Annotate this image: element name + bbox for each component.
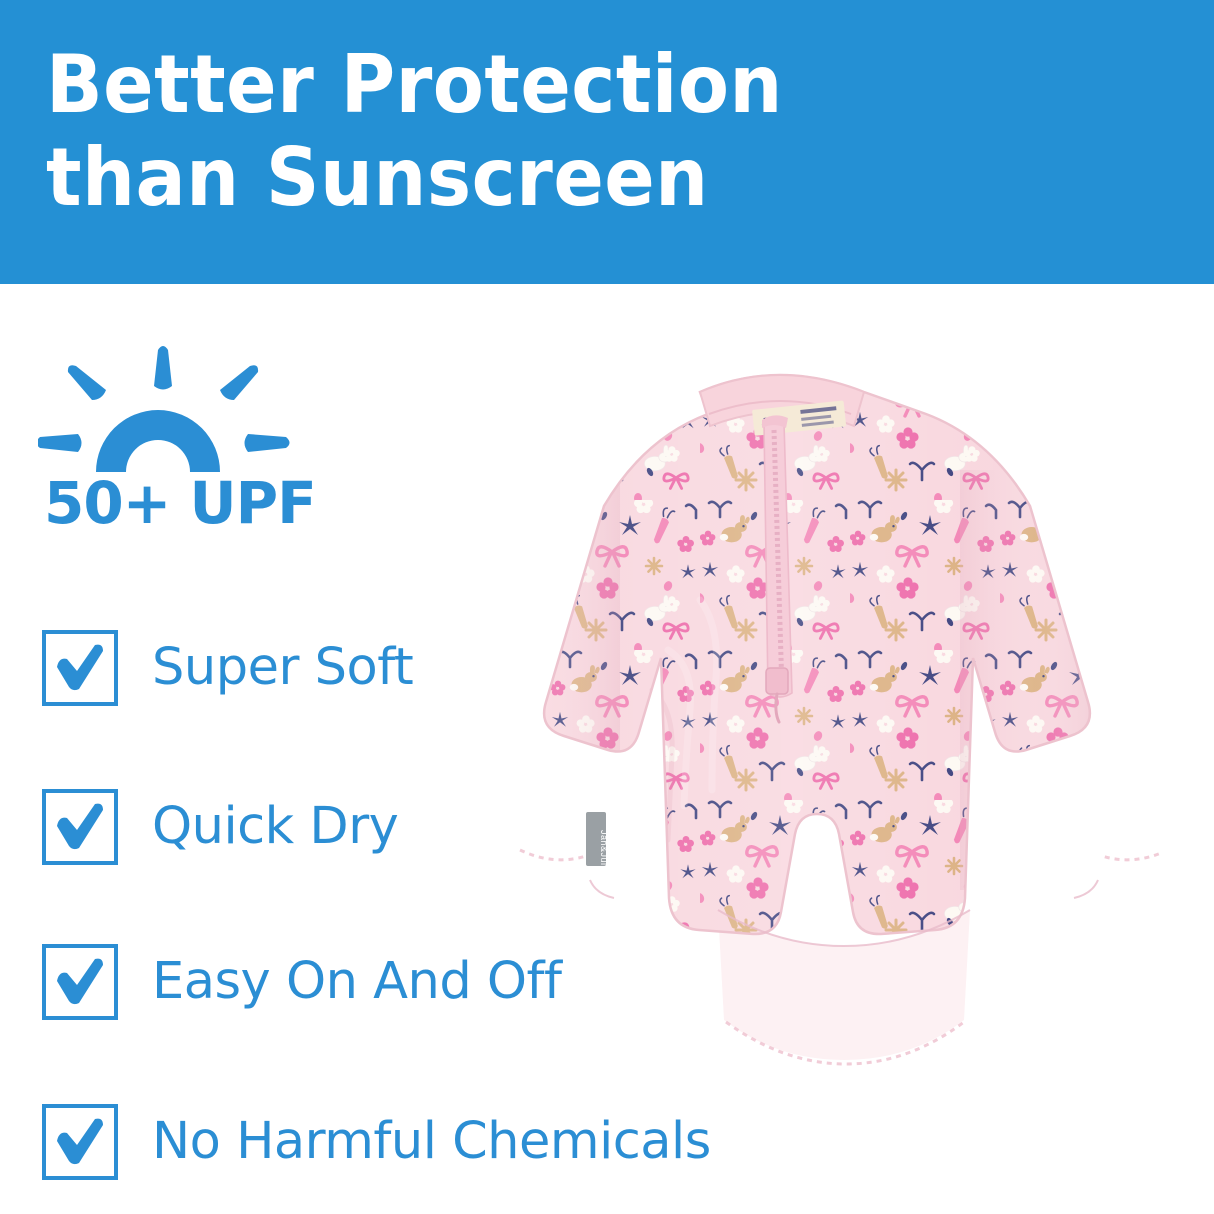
banner-headline: Better Protection than Sunscreen <box>46 38 1032 224</box>
upf-label: 50+ UPF <box>44 474 316 532</box>
feature-label: Quick Dry <box>152 799 398 855</box>
sun-icon <box>38 344 318 474</box>
feature-label: Super Soft <box>152 640 413 696</box>
upf-badge: 50+ UPF <box>38 344 328 564</box>
feature-label: No Harmful Chemicals <box>152 1114 711 1170</box>
product-image-swimsuit: Jul Jan&Jul <box>400 350 1160 1080</box>
feature-item-quick-dry: Quick Dry <box>42 789 398 865</box>
side-tag: Jan&Jul <box>586 812 609 866</box>
svg-text:Jan&Jul: Jan&Jul <box>599 830 609 866</box>
header-banner: Better Protection than Sunscreen <box>0 0 1214 284</box>
seam-stitching <box>590 880 1098 946</box>
checkbox-checked <box>42 630 118 706</box>
infographic-page: Better Protection than Sunscreen <box>0 0 1214 1214</box>
checkbox-checked <box>42 1104 118 1180</box>
feature-item-super-soft: Super Soft <box>42 630 413 706</box>
feature-item-no-harmful-chemicals: No Harmful Chemicals <box>42 1104 711 1180</box>
checkbox-checked <box>42 944 118 1020</box>
checkbox-checked <box>42 789 118 865</box>
